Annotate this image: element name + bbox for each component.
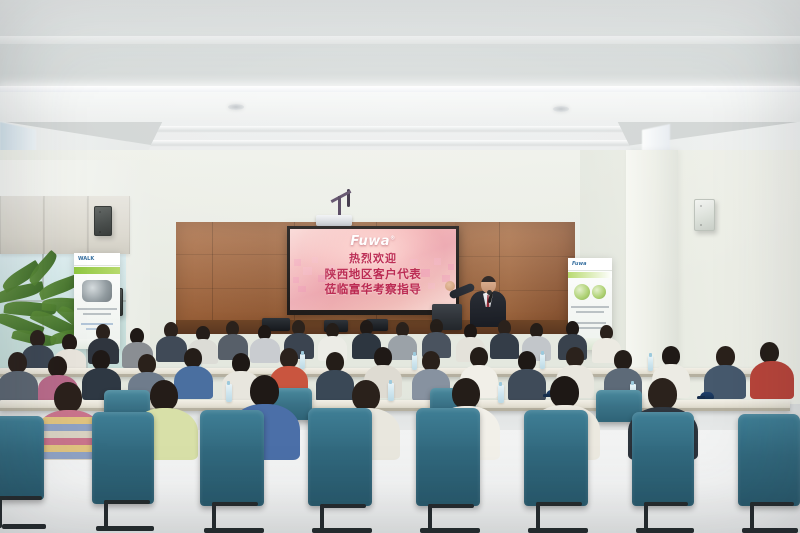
water-bottle [412,355,417,370]
wall-speaker-left [94,206,112,236]
presenter-hand [445,281,455,291]
water-bottle [388,383,394,401]
recessed-downlight [553,106,569,112]
banner-right-logo: Fuwa [572,261,587,267]
cap-on-desk [700,392,714,399]
banner-right-image-a [574,284,590,300]
fuwa-logo: Fuwa® [290,234,456,249]
window-blind [44,196,88,254]
conference-room-photo: Fuwa® 热烈欢迎 陕西地区客户代表 莅临富华考察指导 WALK Fuwa [0,0,800,533]
welcome-message: 热烈欢迎 陕西地区客户代表 莅临富华考察指导 [290,252,456,298]
welcome-line-1: 热烈欢迎 [290,252,456,267]
projection-screen-frame: Fuwa® 热烈欢迎 陕西地区客户代表 莅临富华考察指导 [287,226,459,315]
fuwa-logo-text: Fuwa [350,234,390,249]
chair[interactable] [524,410,588,506]
banner-left-product-image [82,280,112,302]
banner-left-logo: WALK [78,256,94,262]
window-blind [0,196,44,254]
welcome-line-2: 陕西地区客户代表 [290,267,456,283]
ceiling-upper-slab [0,0,800,40]
ceiling-projector [316,215,352,226]
chair[interactable] [92,412,154,504]
chair[interactable] [0,416,44,500]
banner-right-image-b [592,285,606,299]
water-bottle [540,354,545,369]
chair[interactable] [200,410,264,506]
chair[interactable] [416,408,480,506]
water-bottle [226,384,232,402]
water-bottle [648,356,653,371]
wall-speaker-right [694,199,715,231]
recessed-downlight [228,104,244,110]
projection-screen: Fuwa® 热烈欢迎 陕西地区客户代表 莅临富华考察指导 [290,229,456,310]
welcome-line-3: 莅临富华考察指导 [290,282,456,298]
microphone-head [487,290,492,295]
chair[interactable] [738,414,800,506]
ceiling-mid-plane [0,44,800,88]
chair[interactable] [632,412,694,506]
chair[interactable] [308,408,372,506]
trademark-symbol: ® [390,236,396,242]
ceiling-soffit [0,92,800,122]
water-bottle [498,385,504,403]
water-bottle [300,354,305,369]
